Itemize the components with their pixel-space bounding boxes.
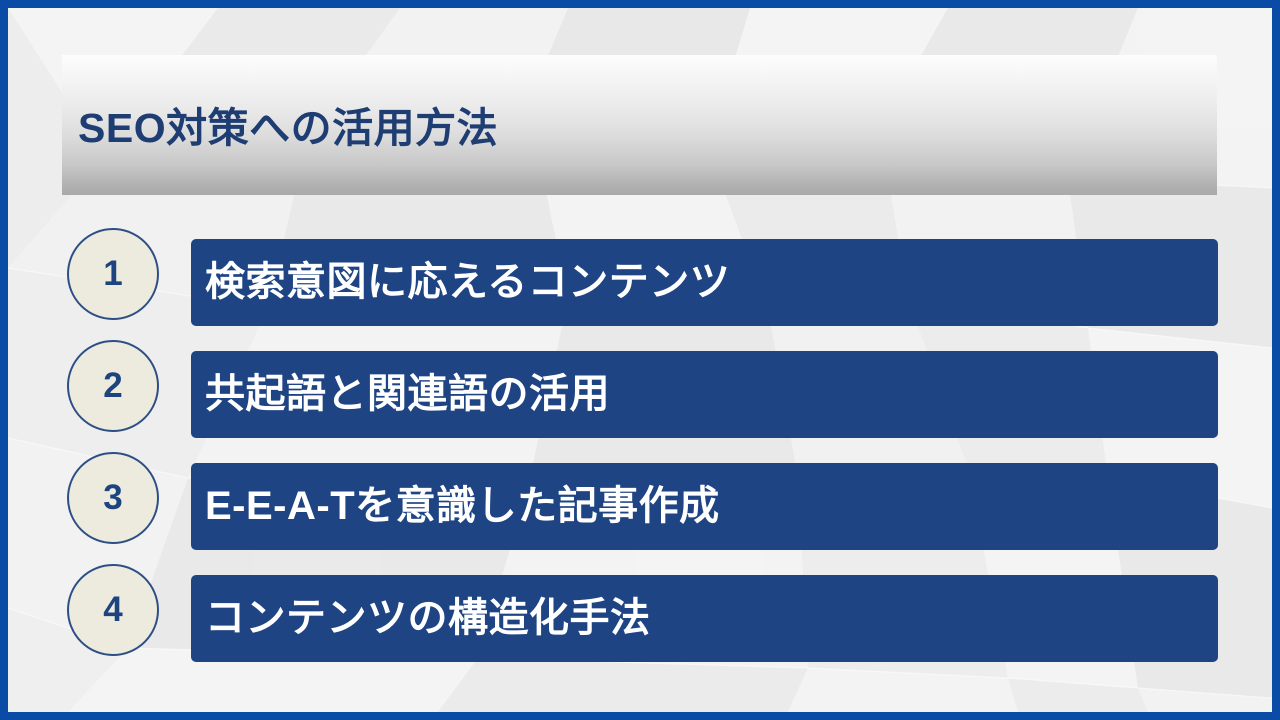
list-item[interactable]: 4 コンテンツの構造化手法 [8, 561, 1272, 657]
item-bar[interactable]: 検索意図に応えるコンテンツ [191, 239, 1218, 326]
item-bar[interactable]: コンテンツの構造化手法 [191, 575, 1218, 662]
item-bar[interactable]: 共起語と関連語の活用 [191, 351, 1218, 438]
item-number-badge: 4 [67, 564, 159, 656]
slide-canvas: SEO対策への活用方法 1 検索意図に応えるコンテンツ 2 共起語と関連語の活用 [8, 8, 1272, 712]
item-label: 共起語と関連語の活用 [205, 374, 610, 414]
item-number-badge: 2 [67, 340, 159, 432]
item-label: コンテンツの構造化手法 [205, 598, 651, 638]
slide: SEO対策への活用方法 1 検索意図に応えるコンテンツ 2 共起語と関連語の活用 [0, 0, 1280, 720]
numbered-list: 1 検索意図に応えるコンテンツ 2 共起語と関連語の活用 3 [8, 8, 1272, 712]
item-label: 検索意図に応えるコンテンツ [205, 262, 730, 302]
item-number: 2 [103, 368, 122, 403]
list-item[interactable]: 2 共起語と関連語の活用 [8, 337, 1272, 433]
item-number: 1 [103, 256, 122, 291]
item-number-badge: 3 [67, 452, 159, 544]
item-number: 3 [103, 480, 122, 515]
item-number-badge: 1 [67, 228, 159, 320]
list-item[interactable]: 3 E-E-A-Tを意識した記事作成 [8, 449, 1272, 545]
list-item[interactable]: 1 検索意図に応えるコンテンツ [8, 225, 1272, 321]
item-bar[interactable]: E-E-A-Tを意識した記事作成 [191, 463, 1218, 550]
item-label: E-E-A-Tを意識した記事作成 [205, 486, 720, 526]
item-number: 4 [103, 592, 122, 627]
